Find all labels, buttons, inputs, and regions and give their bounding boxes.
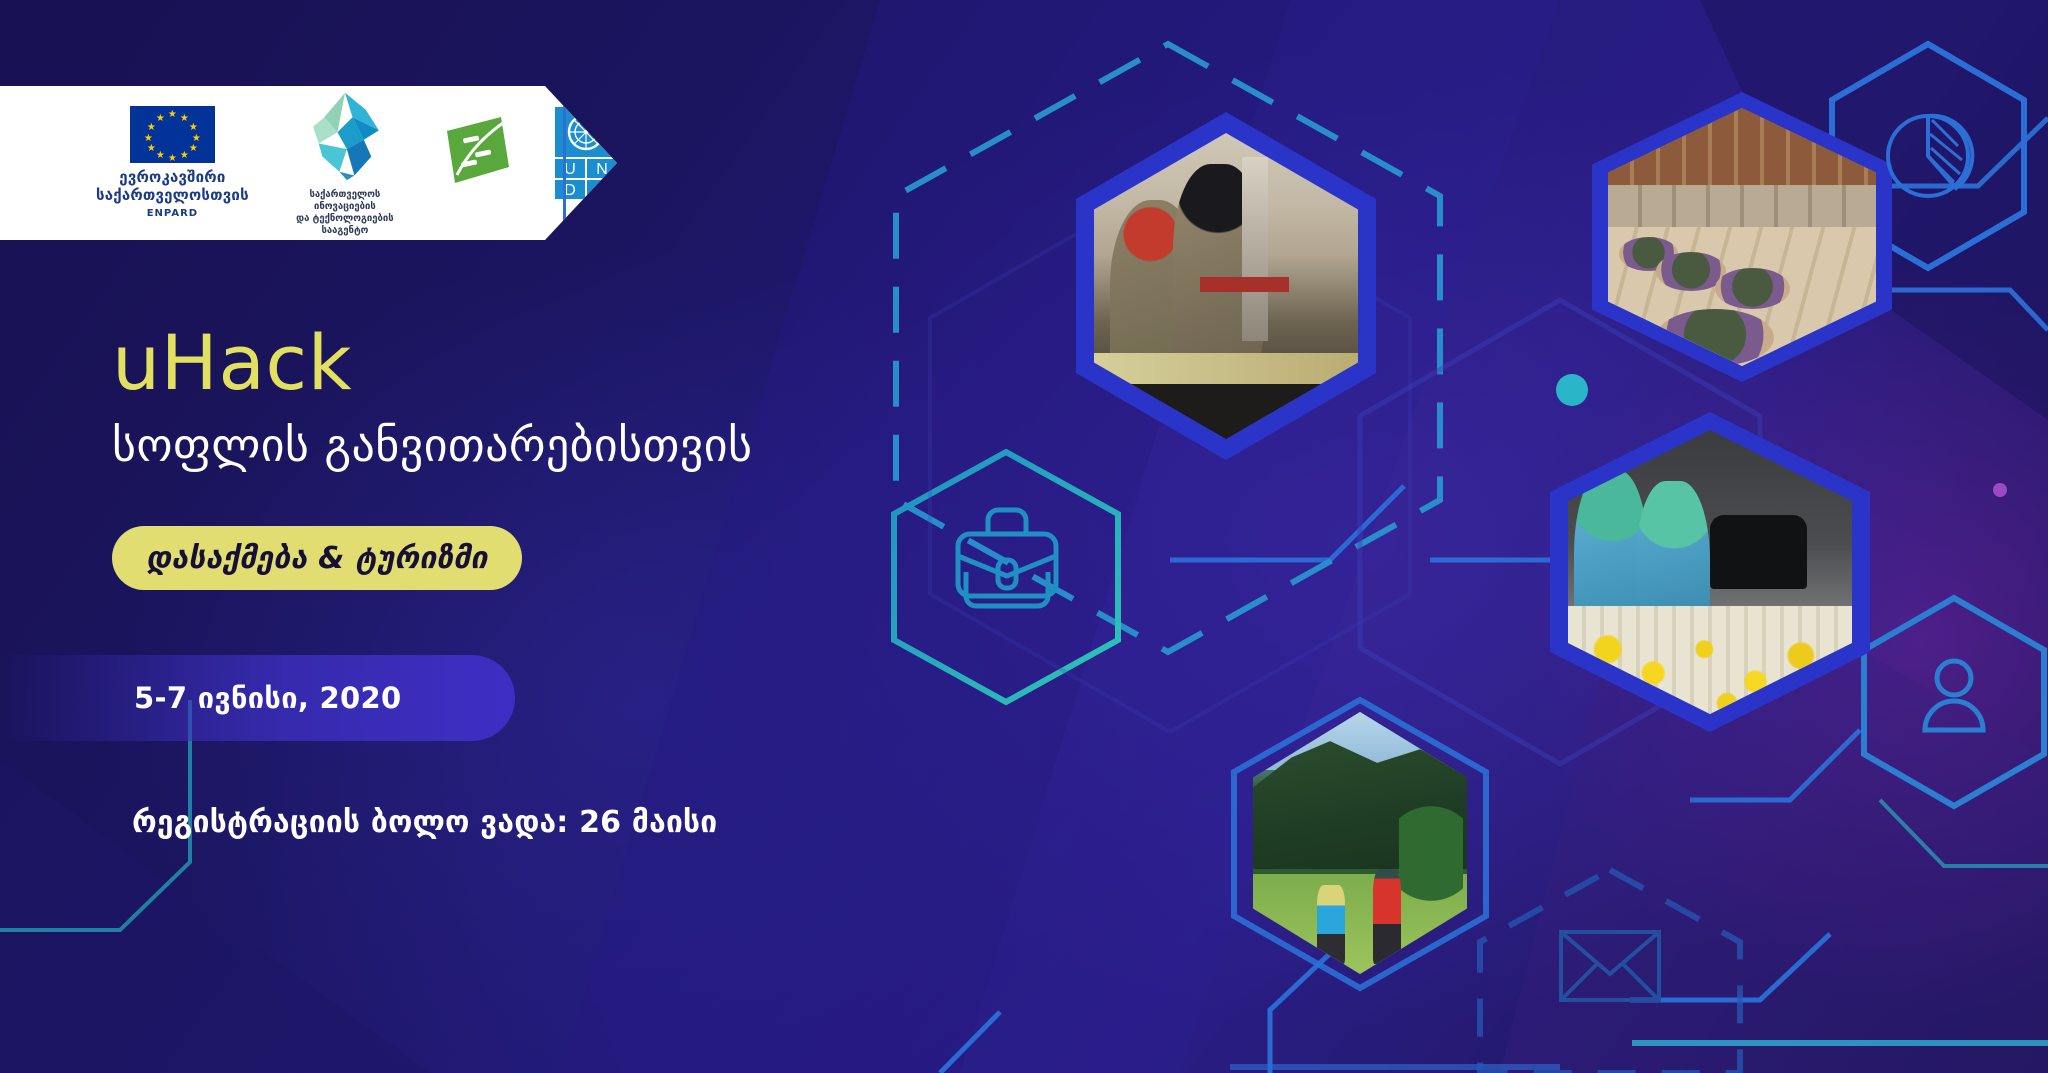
- gita-gem-icon: [298, 89, 392, 183]
- gita-caption-line1: საქართველოს ინოვაციების: [309, 189, 380, 212]
- track-pill-label: დასაქმება & ტურიზმი: [146, 541, 488, 576]
- pie-chart-icon: [1888, 116, 1972, 196]
- track-pill: დასაქმება & ტურიზმი: [112, 526, 522, 590]
- eu-logo-unit: ★ ★★ ★★ ★★ ★★ ★★ ★ ევროკავშირი საქართველ…: [96, 106, 249, 220]
- event-title: uHack: [112, 325, 752, 401]
- svg-text:U: U: [564, 161, 576, 178]
- eu-caption-line2: საქართველოსთვის: [96, 186, 249, 204]
- enpard-green-logo-unit: [441, 113, 513, 187]
- event-dates-band: 5-7 ივნისი, 2020: [0, 655, 515, 741]
- person-icon: [1925, 661, 1983, 730]
- partner-logo-bar: ★ ★★ ★★ ★★ ★★ ★★ ★ ევროკავშირი საქართველ…: [0, 86, 617, 240]
- eu-caption-line1: ევროკავშირი: [119, 168, 225, 186]
- headline-block: uHack სოფლის განვითარებისთვის: [112, 325, 752, 469]
- gita-logo-caption: საქართველოს ინოვაციების და ტექნოლოგიების…: [291, 189, 399, 237]
- enpard-green-leaf-icon: [441, 113, 513, 187]
- european-union-flag-icon: ★ ★★ ★★ ★★ ★★ ★★ ★: [130, 106, 215, 163]
- eu-logo-caption: ევროკავშირი საქართველოსთვის ENPARD: [96, 168, 249, 220]
- gita-logo-unit: საქართველოს ინოვაციების და ტექნოლოგიების…: [291, 89, 399, 237]
- enpard-label: ENPARD: [96, 208, 249, 220]
- svg-text:D: D: [564, 182, 576, 199]
- event-subtitle: სოფლის განვითარებისთვის: [112, 421, 752, 469]
- briefcase-icon: [958, 510, 1056, 606]
- event-dates: 5-7 ივნისი, 2020: [134, 681, 401, 715]
- registration-deadline: რეგისტრაციის ბოლო ვადა: 26 მაისი: [132, 805, 717, 840]
- uhack-event-banner: ★ ★★ ★★ ★★ ★★ ★★ ★ ევროკავშირი საქართველ…: [0, 0, 2048, 1073]
- gita-caption-line2: და ტექნოლოგიების სააგენტო: [296, 213, 393, 236]
- envelope-icon: [1561, 932, 1659, 1000]
